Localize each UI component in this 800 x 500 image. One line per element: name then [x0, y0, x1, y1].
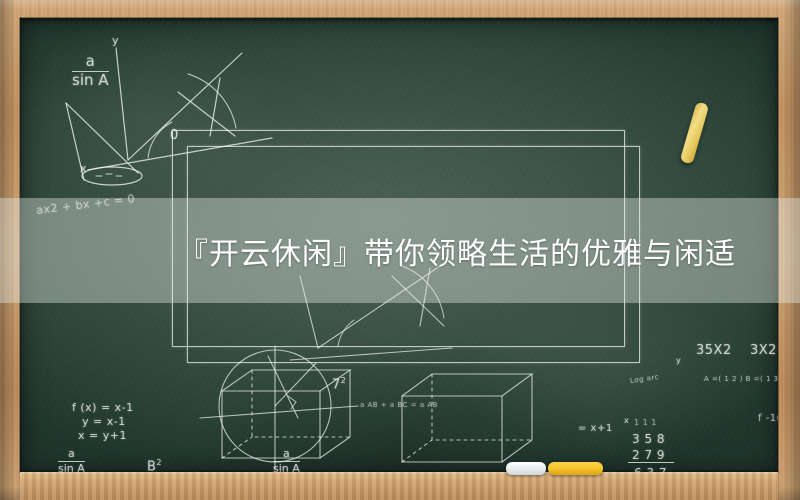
- chalk-axis-label-x-right: x: [624, 416, 629, 425]
- chalk-fx-line1: f (x) = x-1: [72, 401, 134, 414]
- chalk-product-3x2: 3X2: [750, 343, 777, 358]
- yellow-chalk-stick-tray[interactable]: [548, 462, 603, 475]
- white-chalk-stick-tray[interactable]: [506, 462, 546, 475]
- chalk-fx-line2: y = x-1: [82, 415, 126, 428]
- chalk-sum-line: [628, 462, 674, 463]
- chalk-log-label: Log arc: [630, 373, 660, 385]
- chalk-sum-row2: 2 7 9: [632, 448, 665, 462]
- chalk-axis-label-y-topleft: y: [112, 34, 119, 47]
- chalk-quadratic-equation: ax2 + bx +c = 0: [36, 192, 136, 217]
- chalk-fraction-a-sinA-bottomleft: a sin A: [58, 448, 85, 472]
- chalk-inverse-function: f -1(x) =: [758, 413, 778, 424]
- page-title: 『开云休闲』带你领略生活的优雅与闲适: [178, 198, 736, 303]
- chalk-vector-equation: a AB + a BC = a AB: [360, 401, 438, 409]
- yellow-chalk-stick-board[interactable]: [680, 101, 710, 164]
- chalk-eq-fragment-right: = x+1: [578, 423, 613, 434]
- chalk-fx-line3: x = y+1: [78, 429, 127, 442]
- banner-stage: a sin A y x 0 ax2 + bx +c = 0 f (x) = x-…: [0, 0, 800, 500]
- chalk-matrices: A =( 1 2 ) B =( 1 3 ) I =( 1 0 ): [704, 375, 778, 383]
- chalk-tray: [20, 472, 778, 500]
- chalk-axis-label-x-topleft: x: [80, 162, 87, 175]
- chalk-fraction-a-sinA-topleft: a sin A: [72, 54, 109, 89]
- chalk-axis-label-y-right: y: [676, 356, 681, 365]
- chalk-exponent-seven: 72: [332, 376, 346, 392]
- chalk-sum-row1: 3 5 8: [632, 432, 665, 446]
- chalk-product-35x2: 35X2: [696, 343, 732, 358]
- chalk-b-squared: B2: [147, 458, 162, 472]
- chalk-fraction-a-sinA-bottommid: a sin A: [273, 448, 300, 472]
- chalk-sum-carry: 1 1 1: [634, 418, 657, 427]
